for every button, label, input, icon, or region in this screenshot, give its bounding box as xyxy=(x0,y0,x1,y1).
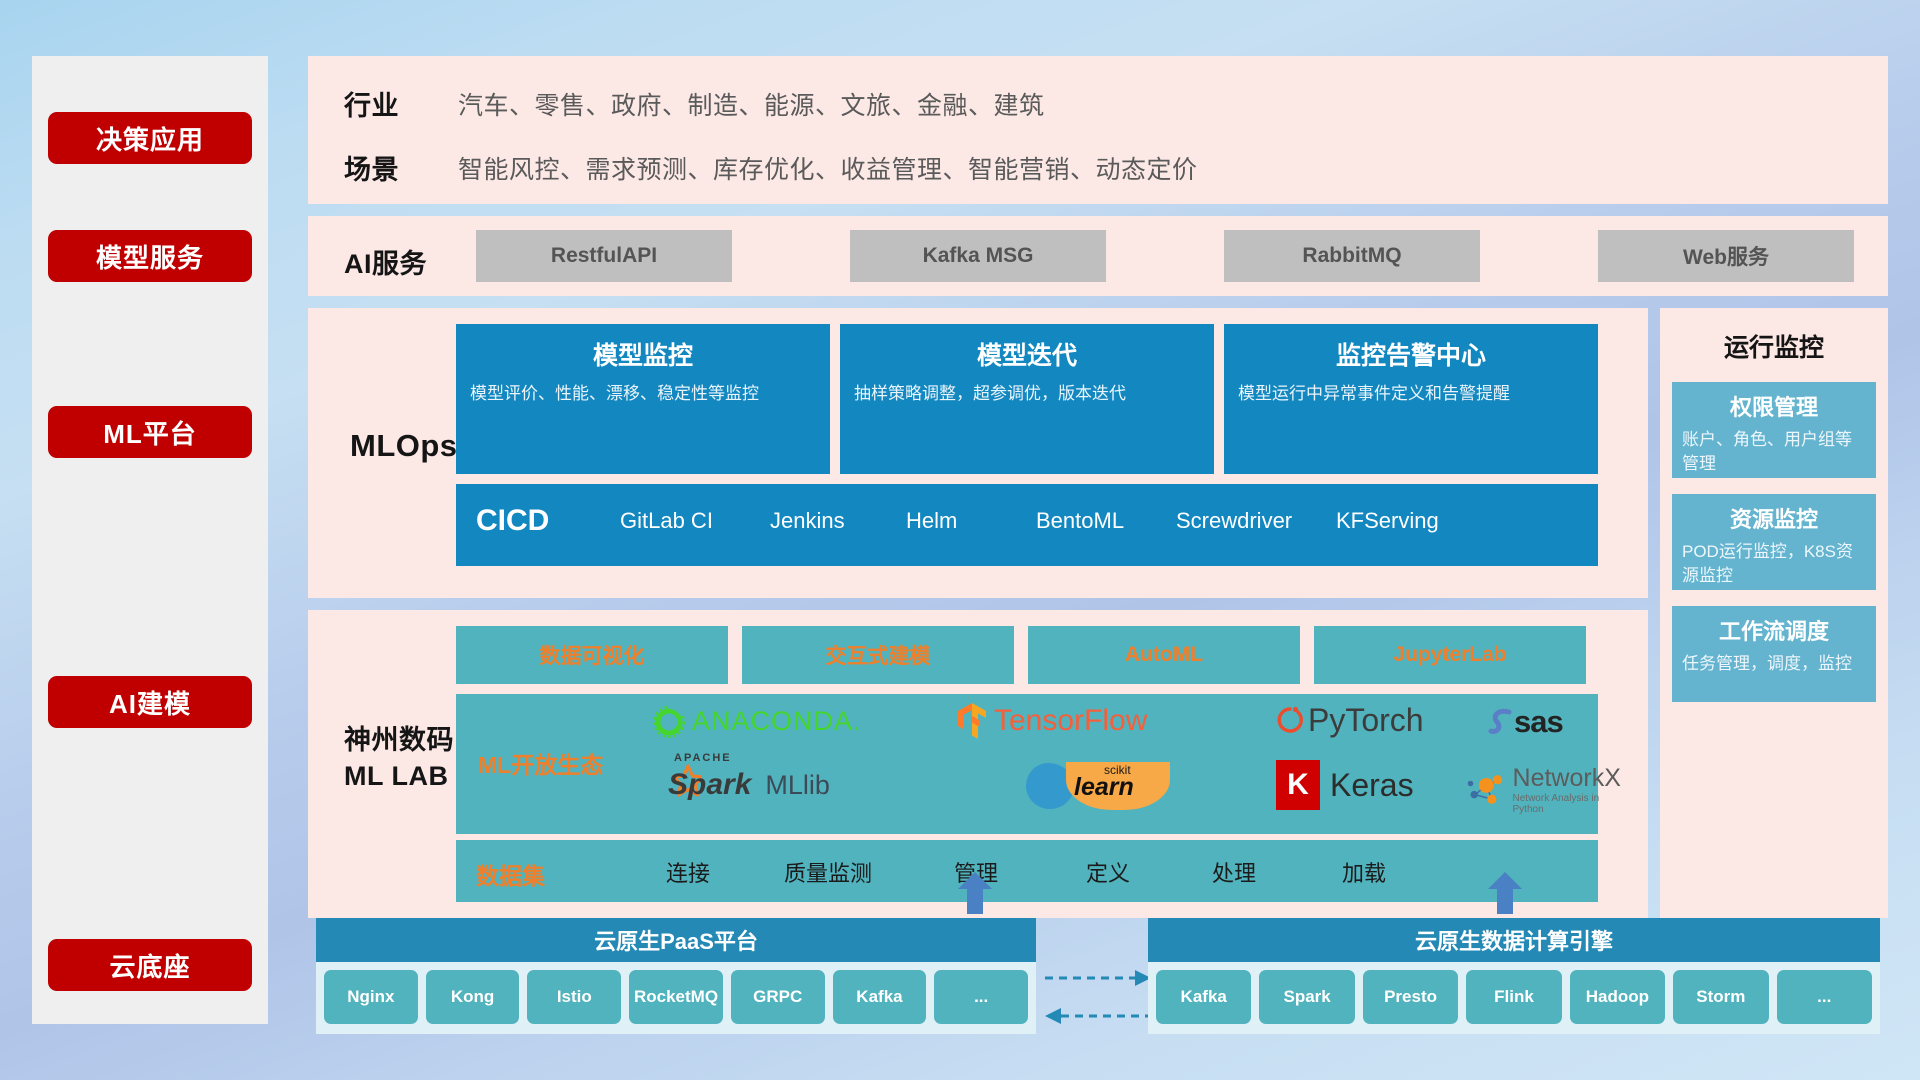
cloud-paas-tags: Nginx Kong Istio RocketMQ GRPC Kafka ... xyxy=(316,962,1036,1034)
card-desc: POD运行监控，K8S资源监控 xyxy=(1682,540,1866,588)
tensorflow-wordmark: TensorFlow xyxy=(994,704,1147,738)
mlops-band: MLOps 模型监控 模型评价、性能、漂移、稳定性等监控 模型迭代 抽样策略调整… xyxy=(308,308,1648,598)
ml-ecosystem-label: ML开放生态 xyxy=(478,746,603,780)
decision-app-band: 行业 汽车、零售、政府、制造、能源、文旅、金融、建筑 场景 智能风控、需求预测、… xyxy=(308,56,1888,204)
cicd-title: CICD xyxy=(476,504,549,538)
card-title: 模型监控 xyxy=(470,336,816,372)
rail-label: AI建模 xyxy=(109,684,191,721)
cloud-paas-title: 云原生PaaS平台 xyxy=(316,918,1036,962)
rail-chip-model-service[interactable]: 模型服务 xyxy=(48,230,252,282)
keras-mark: K xyxy=(1276,760,1320,810)
pytorch-wordmark: PyTorch xyxy=(1308,702,1424,739)
ai-service-label: AI服务 xyxy=(344,242,427,281)
rail-chip-decision-app[interactable]: 决策应用 xyxy=(48,112,252,164)
engine-tag-hadoop[interactable]: Hadoop xyxy=(1570,970,1665,1024)
card-desc: 抽样策略调整，超参调优，版本迭代 xyxy=(854,382,1200,407)
card-title: 监控告警中心 xyxy=(1238,336,1584,372)
cloud-paas-panel: 云原生PaaS平台 Nginx Kong Istio RocketMQ GRPC… xyxy=(316,918,1036,1034)
industry-label: 行业 xyxy=(344,84,399,123)
up-arrow-icon-paas xyxy=(958,872,992,914)
cloud-base-layer: 云原生PaaS平台 Nginx Kong Istio RocketMQ GRPC… xyxy=(308,890,1888,1030)
engine-tag-storm[interactable]: Storm xyxy=(1673,970,1768,1024)
engine-tag-spark[interactable]: Spark xyxy=(1259,970,1354,1024)
card-desc: 模型评价、性能、漂移、稳定性等监控 xyxy=(470,382,816,407)
engine-tag-more[interactable]: ... xyxy=(1777,970,1872,1024)
service-box-kafka-msg[interactable]: Kafka MSG xyxy=(850,230,1106,282)
cloud-tag-grpc[interactable]: GRPC xyxy=(731,970,825,1024)
up-arrow-icon-data-engine xyxy=(1488,872,1522,914)
service-label: RestfulAPI xyxy=(551,244,657,268)
anaconda-mark xyxy=(652,704,686,738)
service-label: Kafka MSG xyxy=(923,244,1034,268)
service-box-rabbitmq[interactable]: RabbitMQ xyxy=(1224,230,1480,282)
anaconda-logo: ANACONDA. xyxy=(652,704,862,738)
dataset-item-load[interactable]: 加载 xyxy=(1304,856,1424,888)
card-desc: 账户、角色、用户组等管理 xyxy=(1682,428,1866,476)
cloud-data-engine-tags: Kafka Spark Presto Flink Hadoop Storm ..… xyxy=(1148,962,1880,1034)
sas-wordmark: sas xyxy=(1514,704,1563,740)
card-title: 工作流调度 xyxy=(1682,614,1866,646)
rail-label: 决策应用 xyxy=(96,120,204,157)
mllib-wordmark: MLlib xyxy=(765,770,830,801)
scenario-value: 智能风控、需求预测、库存优化、收益管理、智能营销、动态定价 xyxy=(458,150,1198,186)
monitor-card-resource[interactable]: 资源监控 POD运行监控，K8S资源监控 xyxy=(1672,494,1876,590)
scenario-label: 场景 xyxy=(344,148,399,187)
cloud-tag-kafka[interactable]: Kafka xyxy=(833,970,927,1024)
layer-rail: 决策应用 模型服务 ML平台 AI建模 云底座 xyxy=(32,56,268,1024)
rail-label: ML平台 xyxy=(103,414,197,451)
service-label: Web服务 xyxy=(1683,241,1769,271)
cloud-tag-kong[interactable]: Kong xyxy=(426,970,520,1024)
ml-lab-label: 神州数码 ML LAB xyxy=(344,722,454,795)
service-label: RabbitMQ xyxy=(1302,244,1401,268)
monitor-card-workflow[interactable]: 工作流调度 任务管理，调度，监控 xyxy=(1672,606,1876,702)
rail-chip-cloud-base[interactable]: 云底座 xyxy=(48,939,252,991)
scikit-learn-text: learn xyxy=(1074,773,1134,802)
cloud-data-engine-panel: 云原生数据计算引擎 Kafka Spark Presto Flink Hadoo… xyxy=(1148,918,1880,1034)
lab-tool-interactive-modeling[interactable]: 交互式建模 xyxy=(742,626,1014,684)
rail-label: 模型服务 xyxy=(96,238,204,275)
keras-logo: K Keras xyxy=(1276,760,1414,810)
ml-lab-label-line2: ML LAB xyxy=(344,758,454,794)
networkx-wordmark: NetworkX xyxy=(1513,764,1625,793)
cloud-data-engine-title: 云原生数据计算引擎 xyxy=(1148,918,1880,962)
dataset-item-connect[interactable]: 连接 xyxy=(628,856,748,888)
dataset-item-define[interactable]: 定义 xyxy=(1048,856,1168,888)
engine-tag-flink[interactable]: Flink xyxy=(1466,970,1561,1024)
cicd-item-bentoml[interactable]: BentoML xyxy=(1036,508,1166,534)
lab-tool-data-visualization[interactable]: 数据可视化 xyxy=(456,626,728,684)
networkx-mark xyxy=(1464,769,1509,811)
networkx-subtitle: Network Analysis in Python xyxy=(1513,793,1625,815)
lab-tool-jupyterlab[interactable]: JupyterLab xyxy=(1314,626,1586,684)
tensorflow-logo: TensorFlow xyxy=(956,702,1147,740)
ml-lab-label-line1: 神州数码 xyxy=(344,722,454,758)
bidirectional-dashed-arrows xyxy=(1043,962,1153,1032)
spark-wordmark: Spark xyxy=(668,768,751,801)
service-box-restfulapi[interactable]: RestfulAPI xyxy=(476,230,732,282)
ai-service-band: AI服务 RestfulAPI Kafka MSG RabbitMQ Web服务 xyxy=(308,216,1888,296)
mlops-card-alert-center[interactable]: 监控告警中心 模型运行中异常事件定义和告警提醒 xyxy=(1224,324,1598,474)
card-title: 模型迭代 xyxy=(854,336,1200,372)
runtime-monitor-band: 运行监控 权限管理 账户、角色、用户组等管理 资源监控 POD运行监控，K8S资… xyxy=(1660,308,1888,918)
lab-tool-automl[interactable]: AutoML xyxy=(1028,626,1300,684)
cloud-tag-nginx[interactable]: Nginx xyxy=(324,970,418,1024)
spark-apache-text: APACHE xyxy=(674,752,732,764)
dataset-label: 数据集 xyxy=(476,857,545,891)
monitor-card-permission[interactable]: 权限管理 账户、角色、用户组等管理 xyxy=(1672,382,1876,478)
industry-value: 汽车、零售、政府、制造、能源、文旅、金融、建筑 xyxy=(458,86,1045,122)
cloud-tag-more[interactable]: ... xyxy=(934,970,1028,1024)
spark-mllib-logo: APACHE Spark MLlib xyxy=(656,764,830,806)
keras-k-glyph: K xyxy=(1287,768,1309,802)
rail-chip-ai-modeling[interactable]: AI建模 xyxy=(48,676,252,728)
cicd-item-kfserving[interactable]: KFServing xyxy=(1336,508,1466,534)
cicd-item-screwdriver[interactable]: Screwdriver xyxy=(1176,508,1306,534)
anaconda-wordmark: ANACONDA. xyxy=(692,706,862,737)
dataset-item-process[interactable]: 处理 xyxy=(1174,856,1294,888)
dataset-item-quality[interactable]: 质量监测 xyxy=(768,856,888,888)
rail-chip-ml-platform[interactable]: ML平台 xyxy=(48,406,252,458)
cicd-bar: CICD GitLab CI Jenkins Helm BentoML Scre… xyxy=(456,484,1598,566)
ml-ecosystem-panel: ML开放生态 ANACONDA. TensorFlow xyxy=(456,694,1598,834)
sas-logo: sas xyxy=(1486,704,1563,740)
runtime-monitor-title: 运行监控 xyxy=(1660,328,1888,364)
card-desc: 模型运行中异常事件定义和告警提醒 xyxy=(1238,382,1584,407)
cicd-item-gitlab-ci[interactable]: GitLab CI xyxy=(620,508,750,534)
cloud-tag-istio[interactable]: Istio xyxy=(527,970,621,1024)
engine-tag-kafka[interactable]: Kafka xyxy=(1156,970,1251,1024)
mlops-card-model-iteration[interactable]: 模型迭代 抽样策略调整，超参调优，版本迭代 xyxy=(840,324,1214,474)
card-desc: 任务管理，调度，监控 xyxy=(1682,652,1866,676)
card-title: 权限管理 xyxy=(1682,390,1866,422)
networkx-logo: NetworkX Network Analysis in Python xyxy=(1464,764,1624,815)
cicd-item-helm[interactable]: Helm xyxy=(906,508,1036,534)
card-title: 资源监控 xyxy=(1682,502,1866,534)
pytorch-logo: PyTorch xyxy=(1276,702,1424,739)
pytorch-mark xyxy=(1276,704,1304,738)
scikit-learn-logo: scikit learn xyxy=(1026,762,1170,810)
engine-tag-presto[interactable]: Presto xyxy=(1363,970,1458,1024)
scikit-orange-blob: scikit learn xyxy=(1066,762,1170,810)
mlops-card-model-monitoring[interactable]: 模型监控 模型评价、性能、漂移、稳定性等监控 xyxy=(456,324,830,474)
tensorflow-mark xyxy=(956,702,990,740)
service-box-web[interactable]: Web服务 xyxy=(1598,230,1854,282)
cloud-tag-rocketmq[interactable]: RocketMQ xyxy=(629,970,723,1024)
mlops-label: MLOps xyxy=(350,428,458,464)
rail-label: 云底座 xyxy=(109,947,190,984)
cicd-item-jenkins[interactable]: Jenkins xyxy=(770,508,900,534)
keras-wordmark: Keras xyxy=(1330,767,1414,804)
